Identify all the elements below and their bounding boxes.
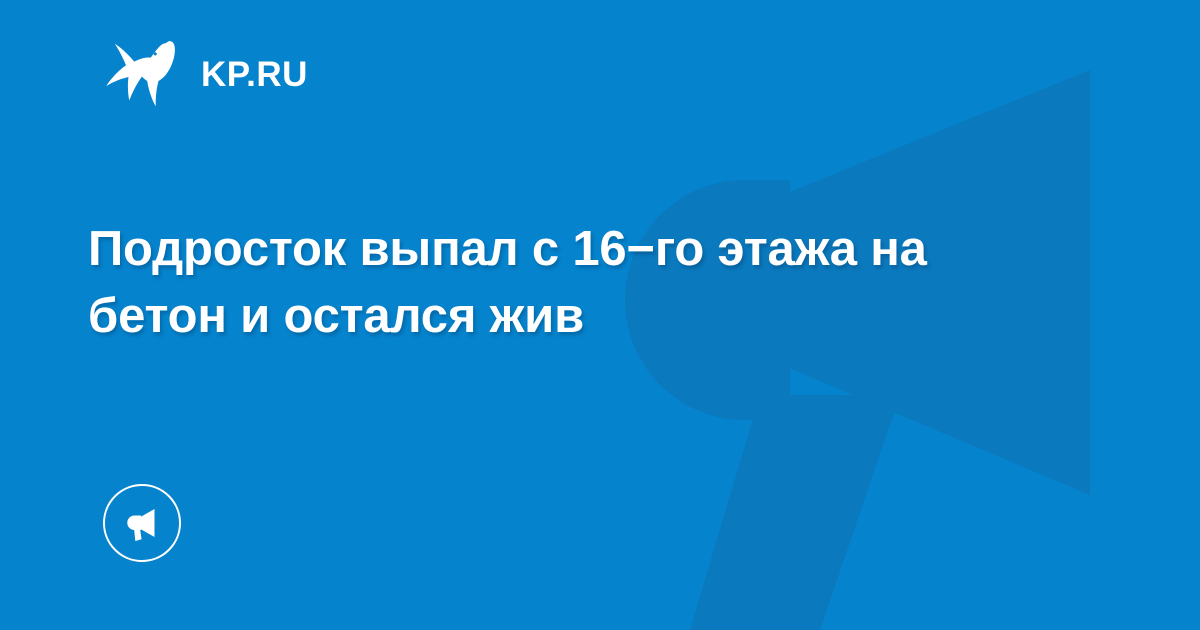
swallow-bird-icon [105,39,179,109]
megaphone-badge[interactable] [103,484,181,562]
megaphone-icon [121,502,163,544]
brand-name: KP.RU [201,57,308,92]
brand-lockup[interactable]: KP.RU [105,38,308,110]
headline: Подросток выпал с 16−го этажа на бетон и… [88,216,1018,349]
share-card: KP.RU Подросток выпал с 16−го этажа на б… [0,0,1200,630]
